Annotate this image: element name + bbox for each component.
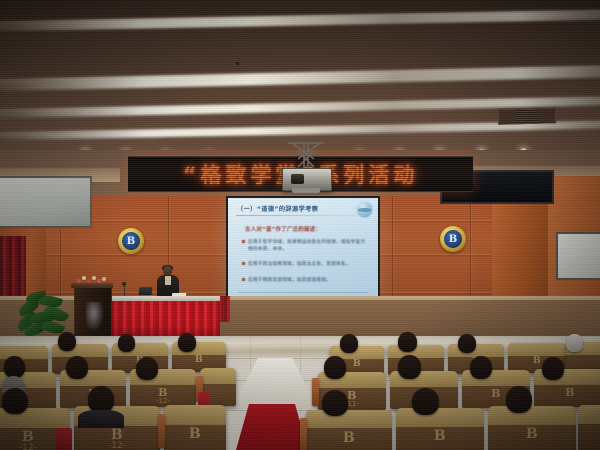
audience-head: [322, 390, 348, 416]
whiteboard-left: [0, 176, 92, 228]
seat-logo: B: [491, 387, 501, 400]
seat-armrest: [312, 378, 319, 406]
strip-light: [0, 9, 600, 32]
projector-lift-mount: [284, 142, 328, 170]
audience-head: [398, 355, 421, 379]
emblem-glyph: B: [440, 226, 466, 252]
whiteboard-right: [556, 232, 600, 280]
slide-title: （一）“道德”的辞源学考察: [237, 204, 344, 213]
slide-footer-rule: [238, 292, 368, 293]
audience-head: [470, 356, 492, 379]
strip-light: [0, 64, 600, 92]
audience-head: [178, 333, 196, 352]
head-table: [112, 296, 220, 338]
seat-armrest: [300, 418, 307, 450]
seat-logo: B: [526, 426, 538, 442]
ceiling-beam: [0, 64, 600, 92]
projector-base: [292, 188, 320, 193]
audience-head: [340, 334, 358, 353]
wall-emblem-left: B: [118, 228, 144, 254]
lectern-crest: [86, 302, 103, 330]
audience-head: [542, 357, 564, 380]
seat-logo: B: [343, 430, 355, 446]
audience-head: [398, 332, 417, 352]
smoke-detector-icon: [236, 62, 239, 65]
audience-head: [58, 332, 76, 351]
slide-bullet: 应用于哲学领域，指事物运动变化的规律，或指宇宙万物的本原、本体。: [242, 239, 370, 254]
lecture-hall-photo: B B “格致学堂”系列活动: [0, 0, 600, 450]
seat-number: -12-: [19, 443, 37, 450]
red-table-skirt: [112, 301, 220, 338]
audience-head: [136, 357, 158, 380]
seat-number: -12-: [108, 441, 126, 450]
list-item[interactable]: B: [306, 410, 392, 450]
seat-number: -12-: [156, 397, 170, 405]
bullet-text: 应用于政治倡教领域，指政治主张、思想体系。: [248, 261, 351, 268]
air-vent: [498, 107, 556, 124]
seat-side-panel: [56, 428, 72, 450]
audience-head: [324, 356, 346, 379]
emblem-glyph: B: [118, 228, 144, 254]
presentation-slide: （一）“道德”的辞源学考察 古人对“道”作了广泛的描述： 应用于哲学领域，指事物…: [228, 198, 378, 302]
seat-logo: B: [565, 386, 575, 399]
scissor-lift-icon: [284, 142, 328, 170]
slide-bullet: 应用于政治倡教领域，指政治主张、思想体系。: [242, 261, 370, 268]
list-item[interactable]: B: [488, 406, 576, 450]
list-item[interactable]: B: [396, 408, 484, 450]
seat-logo: B: [353, 359, 361, 369]
audience-shoulders: [78, 410, 124, 428]
university-seal-icon: [356, 201, 373, 218]
seat-logo: B: [189, 426, 201, 442]
seat-logo: B: [434, 428, 446, 444]
wall-emblem-right: B: [440, 226, 466, 252]
audience-head: [4, 356, 25, 378]
audience-head: [88, 386, 114, 413]
laptop-screen: [139, 287, 153, 295]
seat-logo: B: [533, 356, 541, 366]
list-item[interactable]: [578, 405, 600, 450]
presenter-shirt: [165, 276, 171, 285]
bullet-text: 应用于哲学领域，指事物运动变化的规律，或指宇宙万物的本原、本体。: [248, 239, 370, 254]
microphone-icon: [122, 282, 126, 286]
audience-head: [412, 388, 439, 415]
seat-logo: B: [195, 355, 203, 365]
audience-head: [566, 334, 583, 352]
bullet-square-icon: [242, 262, 245, 265]
slide-bullet: 应用于物质思想领域，指思想道德规。: [242, 277, 370, 284]
audience-head: [458, 334, 476, 353]
bullet-square-icon: [242, 278, 245, 281]
seat-armrest: [158, 414, 165, 448]
audience-head: [2, 388, 28, 414]
slide-divider: [236, 215, 370, 216]
bullet-square-icon: [242, 240, 245, 243]
projection-screen: （一）“道德”的辞源学考察 古人对“道”作了广泛的描述： 应用于哲学领域，指事物…: [226, 196, 380, 304]
audience-head: [118, 334, 135, 352]
audience-head: [66, 356, 88, 379]
bullet-text: 应用于物质思想领域，指思想道德规。: [248, 277, 331, 284]
audience-head: [506, 386, 532, 413]
projector-lens-icon: [291, 174, 304, 184]
list-item[interactable]: B: [164, 405, 226, 450]
ceiling-beam: [0, 9, 600, 32]
slide-lead-text: 古人对“道”作了广泛的描述：: [245, 225, 321, 233]
vent-grille: [499, 108, 555, 123]
